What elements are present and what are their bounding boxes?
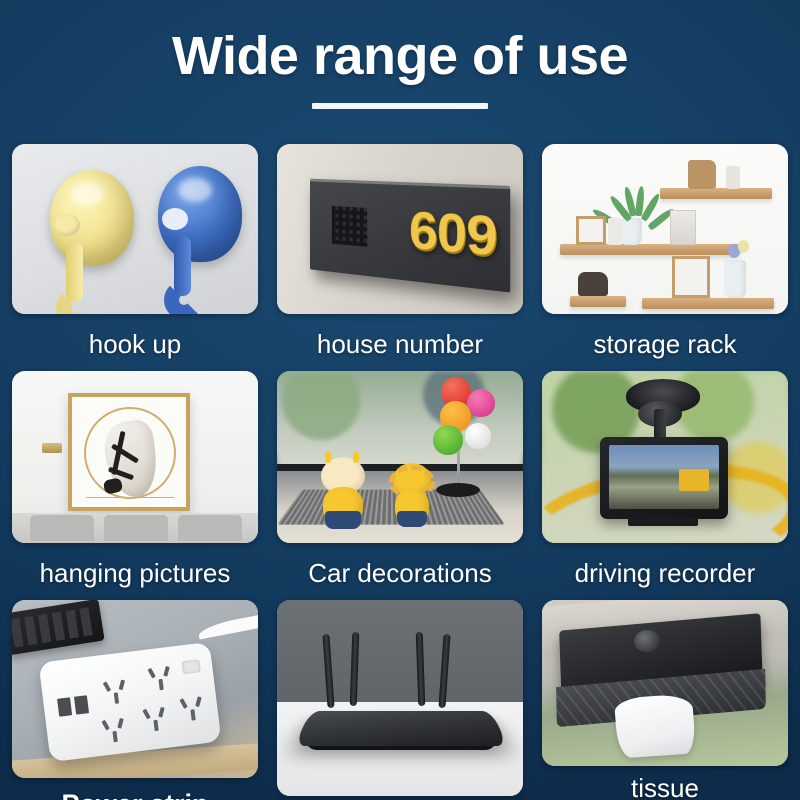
feature-caption: Car decorations — [277, 543, 523, 586]
balloon-pink — [467, 389, 495, 417]
shelf-large-frame — [672, 256, 710, 298]
toy-pants — [325, 511, 361, 529]
feature-grid: hook up 609 house number — [12, 144, 788, 800]
poster-header: Wide range of use — [0, 0, 800, 142]
scene-power-strip — [12, 600, 258, 778]
feature-row: hook up 609 house number — [12, 144, 788, 357]
page-title: Wide range of use — [0, 28, 800, 85]
dash-cam-body — [600, 437, 728, 519]
qr-code-icon — [332, 206, 367, 247]
thumbnail-hook-up[interactable] — [12, 144, 258, 314]
tissue-paper — [614, 693, 696, 758]
thumbnail-house-number[interactable]: 609 — [277, 144, 523, 314]
power-socket — [144, 662, 177, 693]
plaque-number: 609 — [409, 204, 497, 265]
router-body — [294, 711, 508, 746]
door-plaque: 609 — [310, 179, 510, 293]
power-cord — [197, 613, 258, 642]
thumbnail-storage-rack[interactable] — [542, 144, 788, 314]
power-socket — [176, 693, 209, 724]
hook-knob-blue — [162, 208, 188, 230]
shelf-dog-figurine — [578, 272, 608, 296]
thumbnail-driving-recorder[interactable] — [542, 371, 788, 543]
scene-dash-cam — [542, 371, 788, 543]
router-antenna — [438, 634, 450, 708]
power-socket — [98, 714, 131, 745]
scene-router — [277, 600, 523, 796]
feature-caption: tissue — [542, 766, 788, 800]
scene-dashboard-decor — [277, 371, 523, 543]
feature-cell-tissue[interactable]: tissue — [542, 600, 788, 800]
usb-port — [74, 695, 89, 714]
dash-cam-base-bracket — [628, 517, 698, 526]
router-antenna — [322, 634, 334, 708]
feature-row: hanging pictures — [12, 371, 788, 586]
shelf-top — [660, 188, 772, 199]
shelf-rack-organizer — [670, 210, 696, 245]
hook-knob-yellow — [54, 214, 80, 236]
router-antenna — [416, 632, 426, 706]
scene-framed-artwork — [12, 371, 258, 543]
feature-caption: driving recorder — [542, 543, 788, 586]
shelf-canister — [608, 218, 622, 245]
shelf-vase-flowers — [724, 260, 746, 298]
hook-curl-yellow — [56, 288, 96, 314]
scene-floating-shelves — [542, 144, 788, 314]
thumbnail-power-strip[interactable] — [12, 600, 258, 778]
toy-pants — [397, 511, 427, 527]
picture-frame — [68, 393, 190, 511]
sofa-cushion — [104, 515, 168, 541]
scene-door-plaque: 609 — [277, 144, 523, 314]
power-socket — [99, 676, 132, 707]
thumbnail-tissue[interactable] — [542, 600, 788, 766]
toy-horn — [325, 451, 331, 463]
shelf-vase-plant — [620, 218, 642, 245]
feature-cell-router[interactable]: router — [277, 600, 523, 800]
power-socket — [139, 703, 172, 734]
feature-cell-hanging-pictures[interactable]: hanging pictures — [12, 371, 258, 586]
keyboard — [12, 600, 105, 655]
scene-tissue-holder — [542, 600, 788, 766]
shelf-flower-bloom — [738, 240, 749, 253]
balloon-green — [433, 425, 463, 455]
feature-cell-driving-recorder[interactable]: driving recorder — [542, 371, 788, 586]
shelf-picture-frame — [576, 216, 606, 245]
feature-caption: router — [277, 796, 523, 800]
balloon-stand-base — [436, 483, 480, 497]
feature-cell-car-decorations[interactable]: Car decorations — [277, 371, 523, 586]
feature-caption: Power strip — [12, 778, 258, 800]
toy-horn — [353, 451, 359, 463]
power-switch[interactable] — [181, 659, 200, 674]
shelf-bottom-left — [570, 296, 626, 307]
shelf-figurine-deer — [726, 166, 740, 189]
thumbnail-car-decorations[interactable] — [277, 371, 523, 543]
shelf-middle — [560, 244, 740, 255]
title-underline-rule — [312, 103, 488, 109]
sofa-cushion — [178, 515, 242, 541]
thumbnail-hanging-pictures[interactable] — [12, 371, 258, 543]
feature-cell-storage-rack[interactable]: storage rack — [542, 144, 788, 357]
windshield-view — [277, 371, 523, 471]
feature-caption: house number — [277, 314, 523, 357]
feature-caption: hook up — [12, 314, 258, 357]
shelf-bottom-right — [642, 298, 774, 309]
scene-suction-hooks — [12, 144, 258, 314]
usb-port — [57, 697, 72, 716]
feature-cell-house-number[interactable]: 609 house number — [277, 144, 523, 357]
feature-caption: storage rack — [542, 314, 788, 357]
hook-blue — [158, 166, 242, 262]
sofa-cushion — [30, 515, 94, 541]
power-strip-body — [39, 642, 222, 762]
feature-cell-power-strip[interactable]: Power strip — [12, 600, 258, 800]
feature-cell-hook-up[interactable]: hook up — [12, 144, 258, 357]
thumbnail-router[interactable] — [277, 600, 523, 796]
shelf-figurine-horse — [688, 160, 716, 189]
poster-root: Wide range of use — [0, 0, 800, 800]
adhesive-hook-tab — [42, 443, 62, 453]
router-antenna — [350, 632, 360, 706]
balloon-white — [465, 423, 491, 449]
hook-yellow — [50, 170, 134, 266]
feature-row: Power strip router — [12, 600, 788, 800]
feature-caption: hanging pictures — [12, 543, 258, 586]
hook-curl-blue — [164, 280, 204, 314]
dash-cam-screen — [609, 445, 719, 509]
